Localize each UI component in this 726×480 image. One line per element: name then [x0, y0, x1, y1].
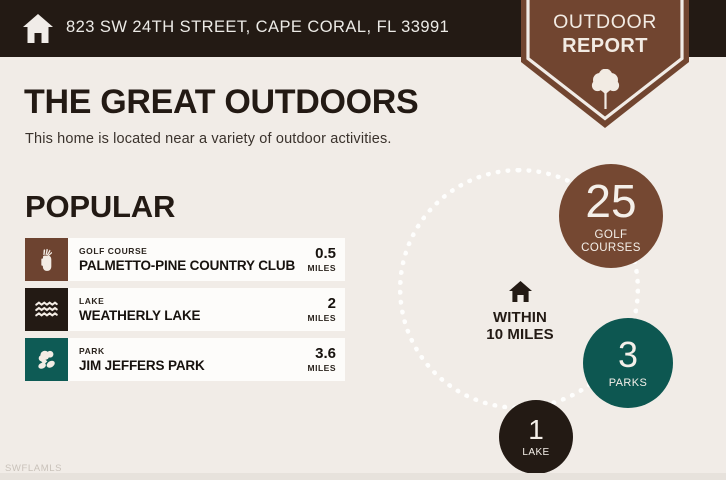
list-item[interactable]: GOLF COURSE PALMETTO-PINE COUNTRY CLUB 0…	[25, 238, 345, 281]
page-subtitle: This home is located near a variety of o…	[25, 131, 392, 147]
poi-category: GOLF COURSE	[79, 247, 295, 256]
list-item[interactable]: LAKE WEATHERLY LAKE 2 MILES	[25, 288, 345, 331]
within-line-1: WITHIN	[468, 309, 572, 326]
outdoor-stats-infographic: WITHIN 10 MILES 25 GOLF COURSES 3 PARKS …	[380, 150, 726, 480]
poi-name: JIM JEFFERS PARK	[79, 359, 205, 373]
stat-value-lake: 1	[528, 416, 544, 444]
bottom-strip	[0, 473, 726, 480]
mls-watermark: SWFLAMLS	[5, 463, 62, 474]
poi-name: WEATHERLY LAKE	[79, 309, 200, 323]
popular-poi-list: GOLF COURSE PALMETTO-PINE COUNTRY CLUB 0…	[25, 238, 345, 388]
tree-icon	[591, 69, 620, 109]
within-line-2: 10 MILES	[468, 326, 572, 343]
poi-distance-value: 3.6	[308, 346, 336, 361]
outdoor-report-badge: OUTDOOR REPORT	[521, 0, 689, 128]
poi-name: PALMETTO-PINE COUNTRY CLUB	[79, 259, 295, 273]
list-item-text-block: PARK JIM JEFFERS PARK	[79, 347, 205, 372]
stat-label-lake: LAKE	[522, 448, 549, 459]
within-radius-label: WITHIN 10 MILES	[468, 280, 572, 343]
stat-circle-parks[interactable]: 3 PARKS	[583, 318, 673, 408]
stat-label-golf-courses-line1: GOLF	[595, 229, 628, 241]
poi-distance-unit: MILES	[308, 264, 336, 273]
popular-section-heading: POPULAR	[25, 189, 175, 225]
list-item-body: LAKE WEATHERLY LAKE 2 MILES	[68, 288, 345, 331]
poi-distance-unit: MILES	[308, 364, 336, 373]
poi-category: LAKE	[79, 297, 200, 306]
water-waves-icon	[25, 288, 68, 331]
property-address: 823 SW 24TH STREET, CAPE CORAL, FL 33991	[66, 18, 449, 37]
poi-distance-value: 0.5	[308, 246, 336, 261]
poi-distance-block: 2 MILES	[308, 296, 336, 323]
stat-value-golf-courses: 25	[585, 178, 636, 224]
list-item-body: PARK JIM JEFFERS PARK 3.6 MILES	[68, 338, 345, 381]
outdoor-report-page: 823 SW 24TH STREET, CAPE CORAL, FL 33991…	[0, 0, 726, 480]
golf-bag-icon	[25, 238, 68, 281]
list-item[interactable]: PARK JIM JEFFERS PARK 3.6 MILES	[25, 338, 345, 381]
list-item-text-block: LAKE WEATHERLY LAKE	[79, 297, 200, 322]
home-icon	[508, 280, 533, 303]
poi-distance-block: 0.5 MILES	[308, 246, 336, 273]
stat-label-parks: PARKS	[609, 378, 647, 390]
stat-label-golf-courses-line2: COURSES	[581, 242, 641, 254]
stat-circle-lake[interactable]: 1 LAKE	[499, 400, 573, 474]
poi-category: PARK	[79, 347, 205, 356]
stat-circle-golf-courses[interactable]: 25 GOLF COURSES	[559, 164, 663, 268]
poi-distance-block: 3.6 MILES	[308, 346, 336, 373]
home-icon	[22, 13, 54, 44]
poi-distance-value: 2	[308, 296, 336, 311]
stat-value-parks: 3	[618, 337, 638, 373]
poi-distance-unit: MILES	[308, 314, 336, 323]
list-item-body: GOLF COURSE PALMETTO-PINE COUNTRY CLUB 0…	[68, 238, 345, 281]
page-title: THE GREAT OUTDOORS	[24, 83, 418, 122]
park-trees-icon	[25, 338, 68, 381]
list-item-text-block: GOLF COURSE PALMETTO-PINE COUNTRY CLUB	[79, 247, 295, 272]
